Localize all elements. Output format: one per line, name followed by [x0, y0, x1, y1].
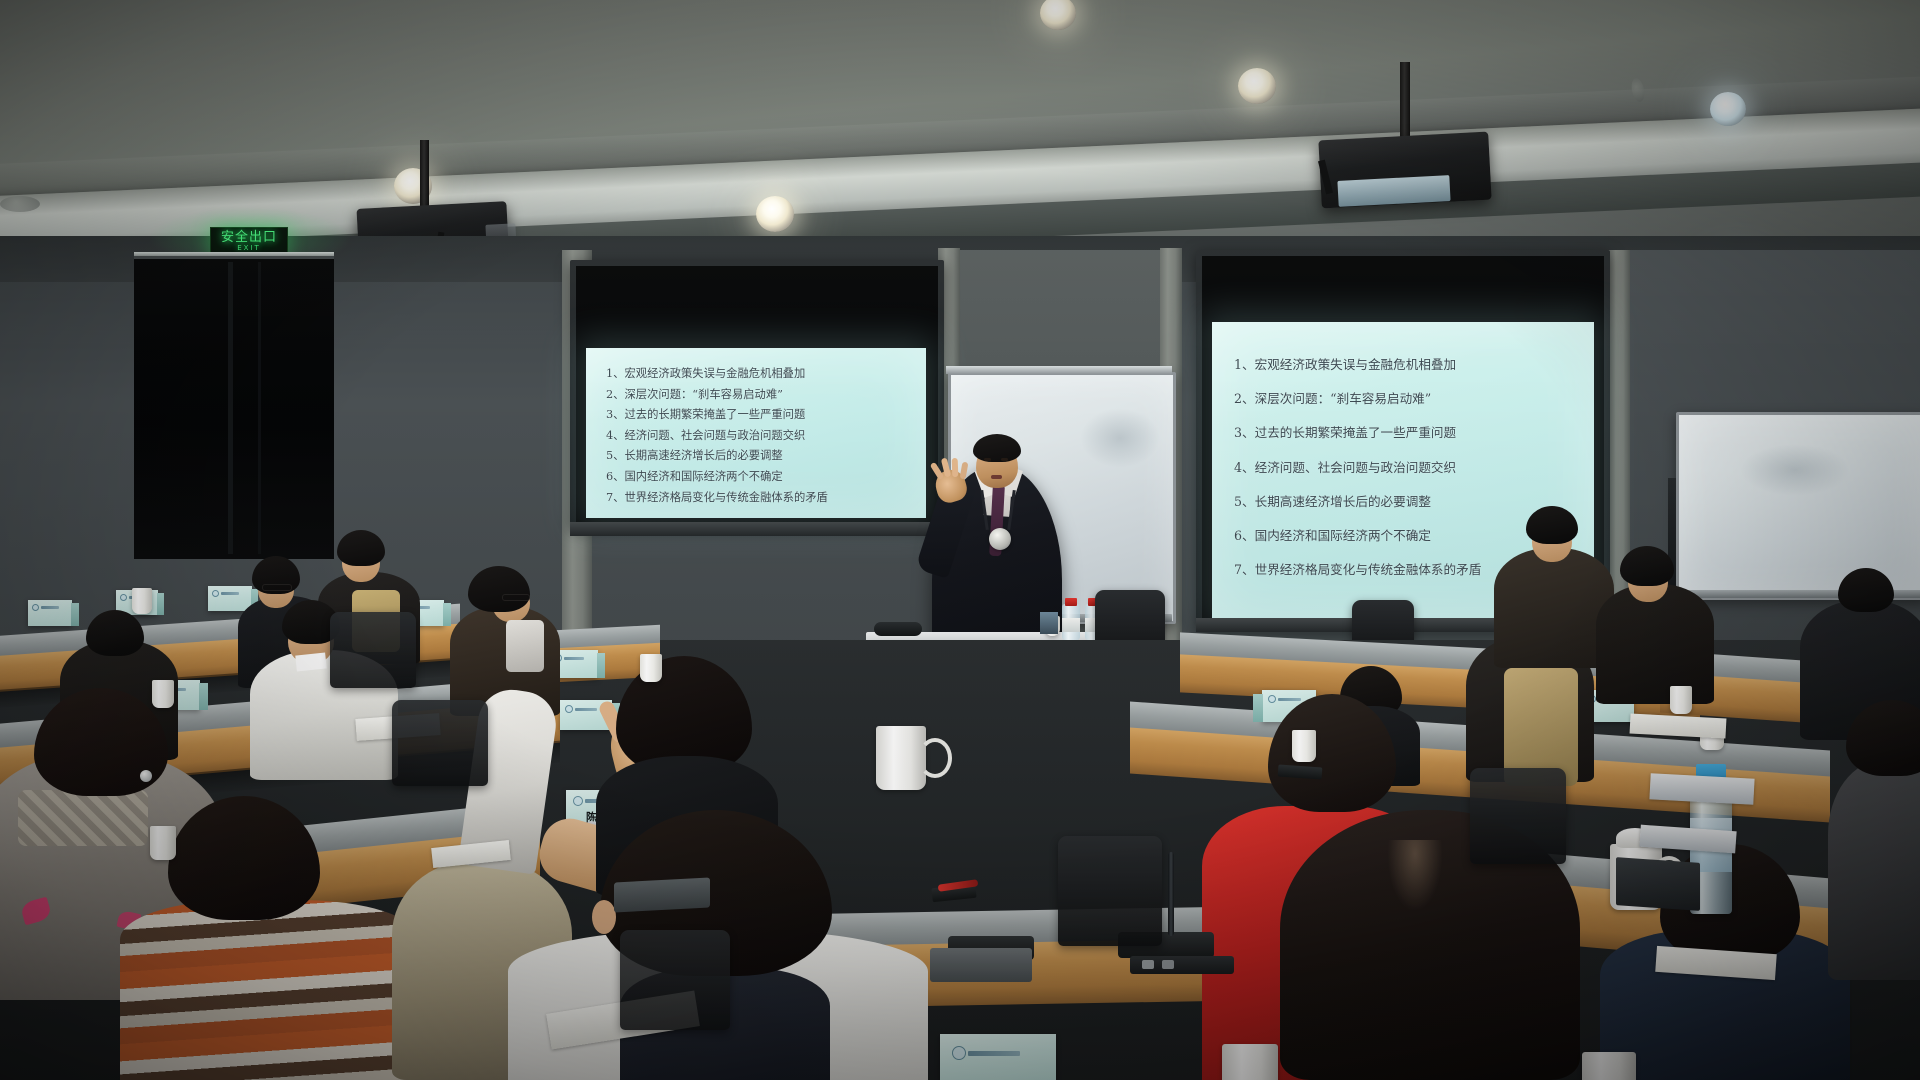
audience-member-blouse — [506, 620, 544, 672]
office-chair-back[interactable] — [330, 612, 416, 688]
presenter-badge — [989, 528, 1011, 550]
projection-screen-left-base — [570, 522, 944, 536]
control-panel-button[interactable] — [1162, 960, 1174, 969]
exit-doorway — [134, 256, 334, 559]
desk-microphone-gooseneck — [1168, 852, 1174, 936]
desk-inset-panel — [614, 877, 710, 912]
slide-bullet: 2、深层次问题：“刹车容易启动难” — [1224, 382, 1594, 416]
office-chair-back[interactable] — [1470, 768, 1566, 864]
presenter-eye-left — [984, 458, 991, 461]
lectern-equipment[interactable] — [874, 622, 922, 636]
presenter-finger — [952, 458, 959, 477]
paper-cup[interactable] — [132, 588, 152, 614]
notebook[interactable] — [1649, 773, 1754, 804]
whiteboard-top-frame — [946, 366, 1172, 374]
projection-screen-left: 1、宏观经济政策失误与金融危机相叠加 2、深层次问题：“刹车容易启动难” 3、过… — [586, 348, 926, 518]
desk-inset-panel — [930, 948, 1032, 982]
whiteboard-smudge — [1740, 444, 1850, 496]
door-frame-seam — [258, 262, 261, 554]
slide-bullet: 3、过去的长期繁荣掩盖了一些严重问题 — [1224, 416, 1594, 450]
exit-sign-chinese: 安全出口 — [221, 231, 277, 244]
exit-sign: 安全出口 EXIT — [210, 227, 288, 255]
ear — [592, 900, 616, 934]
slide-bullet: 4、经济问题、社会问题与政治问题交织 — [596, 426, 926, 447]
office-chair-back[interactable] — [1058, 836, 1162, 946]
paper-cup[interactable] — [152, 680, 174, 708]
ceiling-downlight — [1710, 92, 1746, 126]
hair-part-highlight — [1388, 840, 1442, 910]
bottle-cap — [1065, 598, 1077, 606]
sweater-pattern — [18, 790, 148, 846]
paper-cup[interactable] — [640, 654, 662, 682]
control-panel-button[interactable] — [1142, 960, 1154, 969]
audience-member-torso — [1828, 760, 1920, 980]
slide-bullet: 6、国内经济和国际经济两个不确定 — [596, 467, 926, 488]
ceiling-downlight — [756, 196, 794, 232]
name-tent[interactable] — [208, 586, 252, 611]
slide-bullet: 2、深层次问题：“刹车容易启动难” — [596, 385, 926, 406]
eyeglasses-icon — [262, 584, 292, 591]
office-chair-back[interactable] — [620, 930, 730, 1030]
eyeglasses-icon — [502, 594, 530, 601]
exit-sign-english: EXIT — [237, 245, 261, 252]
name-tent[interactable] — [28, 600, 72, 626]
slide-bullet: 1、宏观经济政策失误与金融危机相叠加 — [596, 364, 926, 385]
paper-cup[interactable] — [1292, 730, 1316, 762]
bottle-label — [1062, 618, 1080, 632]
slide-bullet-list-left: 1、宏观经济政策失误与金融危机相叠加 2、深层次问题：“刹车容易启动难” 3、过… — [586, 348, 926, 508]
presenter-mouth — [991, 475, 1002, 479]
presenter-eye-right — [1001, 458, 1008, 461]
smoke-detector — [0, 196, 40, 212]
lecture-hall-photo: 安全出口 EXIT 1、宏观经济政策失误与金融危机相叠加 2、深层次问题：“刹车… — [0, 0, 1920, 1080]
whiteboard-right — [1676, 412, 1920, 600]
slide-bullet: 3、过去的长期繁荣掩盖了一些严重问题 — [596, 405, 926, 426]
name-tent[interactable] — [940, 1034, 1056, 1080]
whiteboard-smudge — [1080, 408, 1160, 468]
ceiling-downlight — [1238, 68, 1276, 104]
projector-mount-pole — [1400, 62, 1410, 144]
audience-member-hair — [337, 530, 385, 566]
slide-bullet: 7、世界经济格局变化与传统金融体系的矛盾 — [596, 488, 926, 509]
audience-member-collar — [295, 652, 327, 671]
presenter-hair — [973, 434, 1021, 462]
slide-bullet: 5、长期高速经济增长后的必要调整 — [596, 446, 926, 467]
paper-cup[interactable] — [1670, 686, 1692, 714]
mug-handle — [918, 738, 952, 778]
audience-member-torso — [120, 900, 420, 1080]
ceramic-mug[interactable] — [1582, 1052, 1636, 1080]
door-center-seam — [228, 262, 233, 554]
slide-bullet: 4、经济问题、社会问题与政治问题交织 — [1224, 451, 1594, 485]
ceramic-mug[interactable] — [1222, 1044, 1278, 1080]
audience-member-torso — [1596, 584, 1714, 704]
laptop-screen[interactable] — [1616, 857, 1700, 911]
projector-mount-pole — [420, 140, 429, 208]
slide-bullet: 1、宏观经济政策失误与金融危机相叠加 — [1224, 348, 1594, 382]
earring — [140, 770, 152, 782]
office-chair-back[interactable] — [392, 700, 488, 786]
paper-cup[interactable] — [150, 826, 176, 860]
lectern-photo-frame — [1040, 612, 1058, 634]
